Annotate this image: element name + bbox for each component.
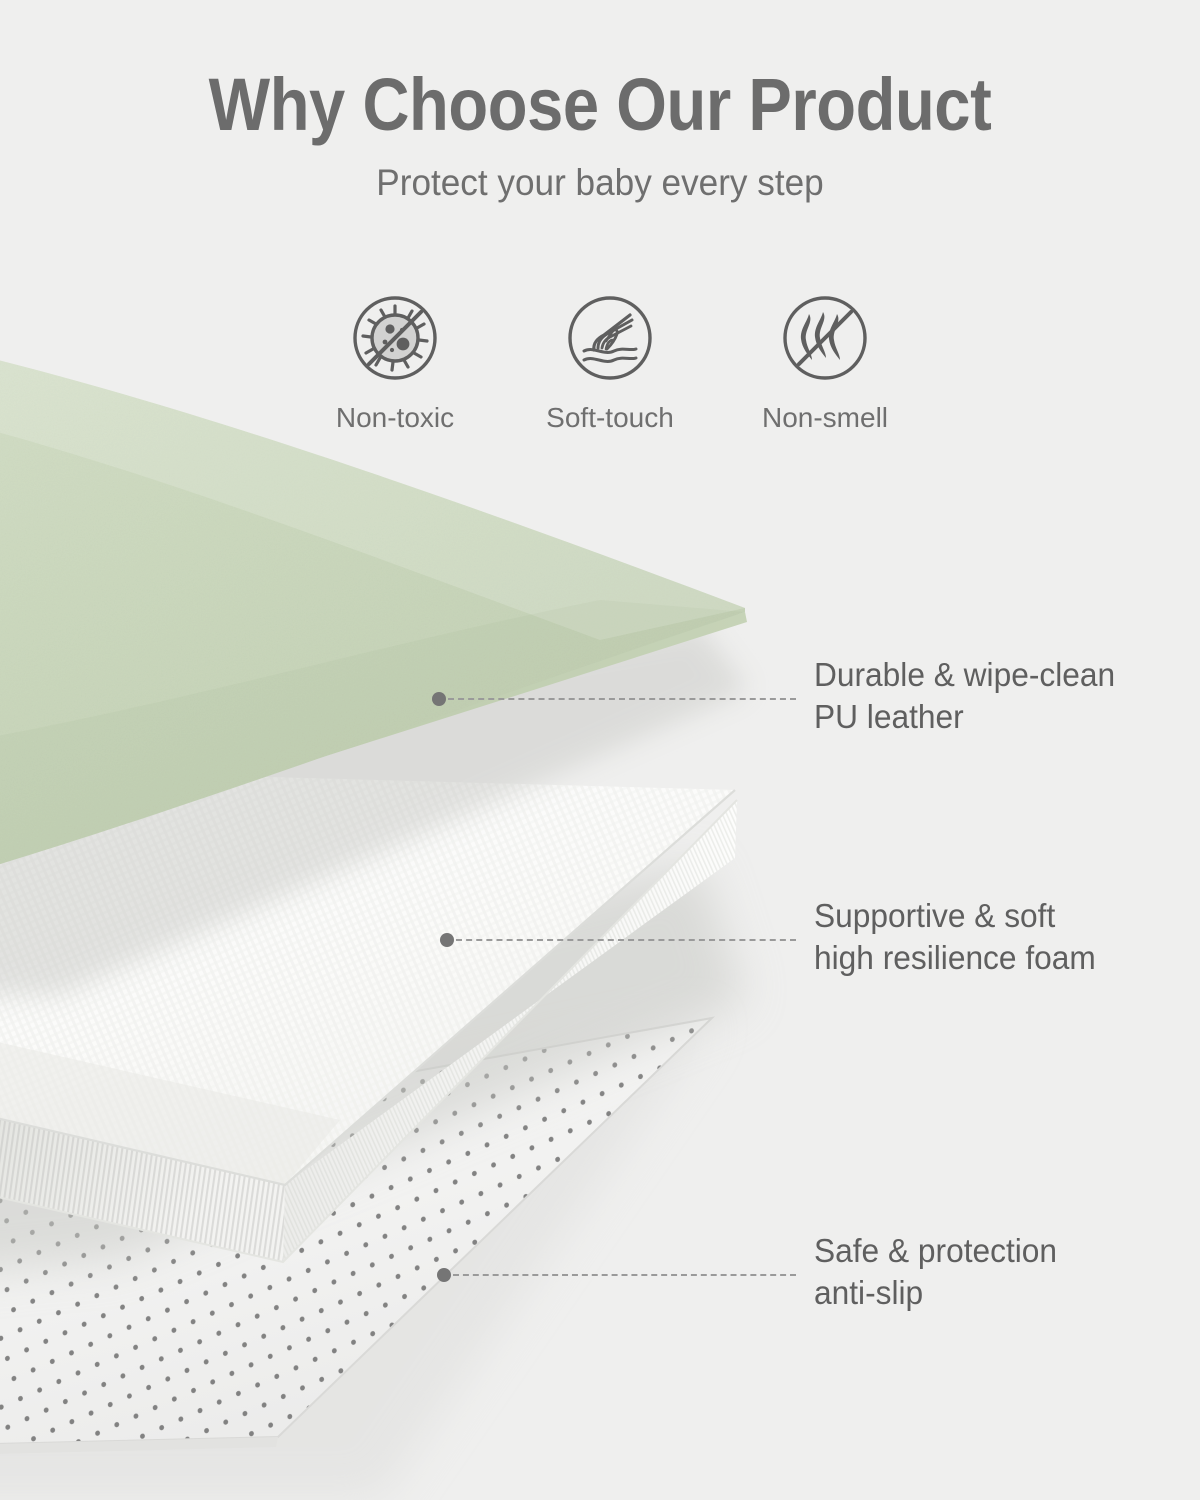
no-odor-waves-icon [775, 288, 875, 388]
hand-touch-fabric-icon [560, 288, 660, 388]
feature-badge-non-toxic: Non-toxic [305, 288, 485, 432]
layer-stack-illustration [0, 0, 1200, 1500]
feature-badges: Non-toxic Soft-touch [305, 288, 915, 432]
feature-badge-non-smell: Non-smell [735, 288, 915, 432]
feature-badge-label: Soft-touch [546, 404, 674, 432]
product-layer-stack [0, 0, 1200, 1500]
feature-badge-label: Non-smell [762, 404, 888, 432]
no-germ-icon [345, 288, 445, 388]
feature-badge-soft-touch: Soft-touch [520, 288, 700, 432]
feature-badge-label: Non-toxic [336, 404, 454, 432]
